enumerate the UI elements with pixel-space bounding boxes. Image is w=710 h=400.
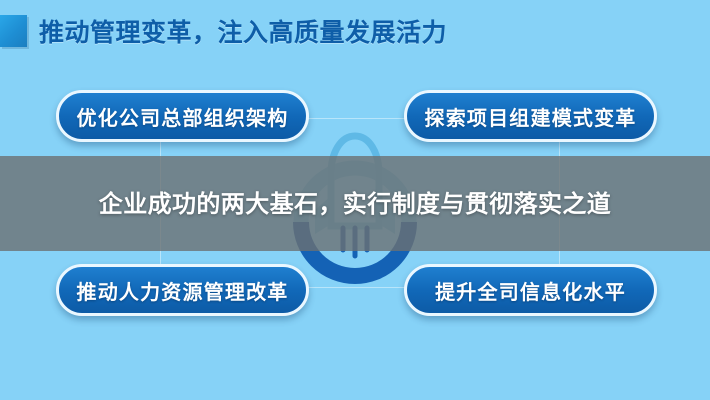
caption-text: 企业成功的两大基石，实行制度与贯彻落实之道 <box>35 187 675 221</box>
node-label: 推动人力资源管理改革 <box>77 276 289 305</box>
header: 推动管理变革，注入高质量发展活力 <box>0 14 447 48</box>
node-top-right[interactable]: 探索项目组建模式变革 <box>404 90 657 142</box>
page-title: 推动管理变革，注入高质量发展活力 <box>39 13 447 49</box>
caption-overlay: 企业成功的两大基石，实行制度与贯彻落实之道 <box>0 156 710 251</box>
poster-canvas: 推动管理变革，注入高质量发展活力 优化公司总部组织架构 探索项目组建模式变革 推… <box>0 0 710 400</box>
node-label: 优化公司总部组织架构 <box>77 102 289 131</box>
node-label: 提升全司信息化水平 <box>435 276 626 305</box>
square-accent-icon <box>0 15 27 47</box>
node-bottom-left[interactable]: 推动人力资源管理改革 <box>56 264 309 316</box>
node-bottom-right[interactable]: 提升全司信息化水平 <box>404 264 657 316</box>
node-top-left[interactable]: 优化公司总部组织架构 <box>56 90 309 142</box>
node-label: 探索项目组建模式变革 <box>425 102 637 131</box>
